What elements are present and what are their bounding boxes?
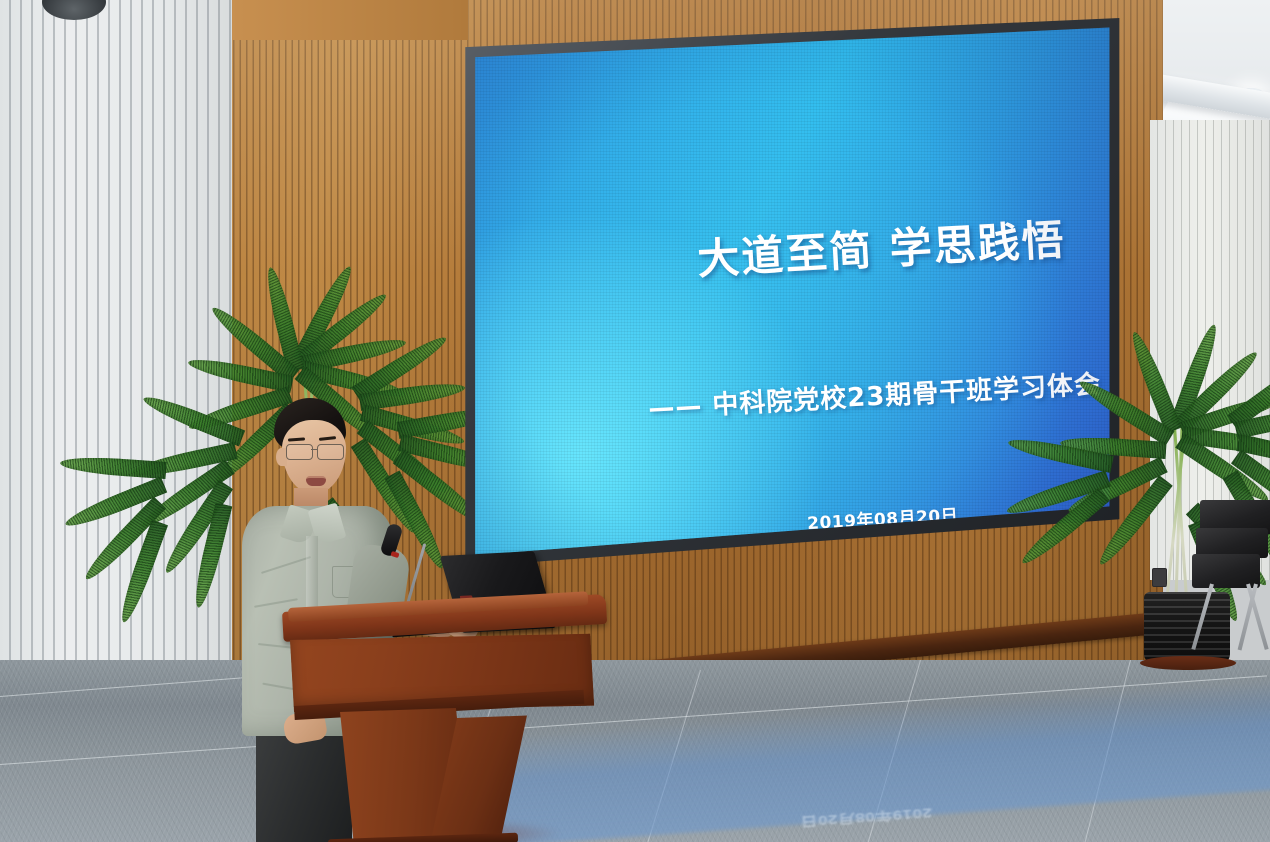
glasses-lens (286, 444, 313, 460)
glasses-lens (317, 444, 344, 460)
photo-scene: 2019年08月20日 (0, 0, 1270, 842)
wood-wall-upper-strip (228, 0, 468, 40)
led-video-wall[interactable]: 大道至简 学思践悟 —— 中科院党校23期骨干班学习体会 2019年08月20日 (462, 18, 1122, 578)
screen-display-surface: 大道至简 学思践悟 —— 中科院党校23期骨干班学习体会 2019年08月20日 (462, 18, 1122, 578)
eyeglasses-icon (284, 444, 346, 459)
stacked-folding-chairs[interactable] (1196, 500, 1270, 660)
screen-vignette (462, 18, 1122, 578)
wooden-lectern[interactable] (282, 600, 612, 842)
mouth (306, 476, 326, 486)
